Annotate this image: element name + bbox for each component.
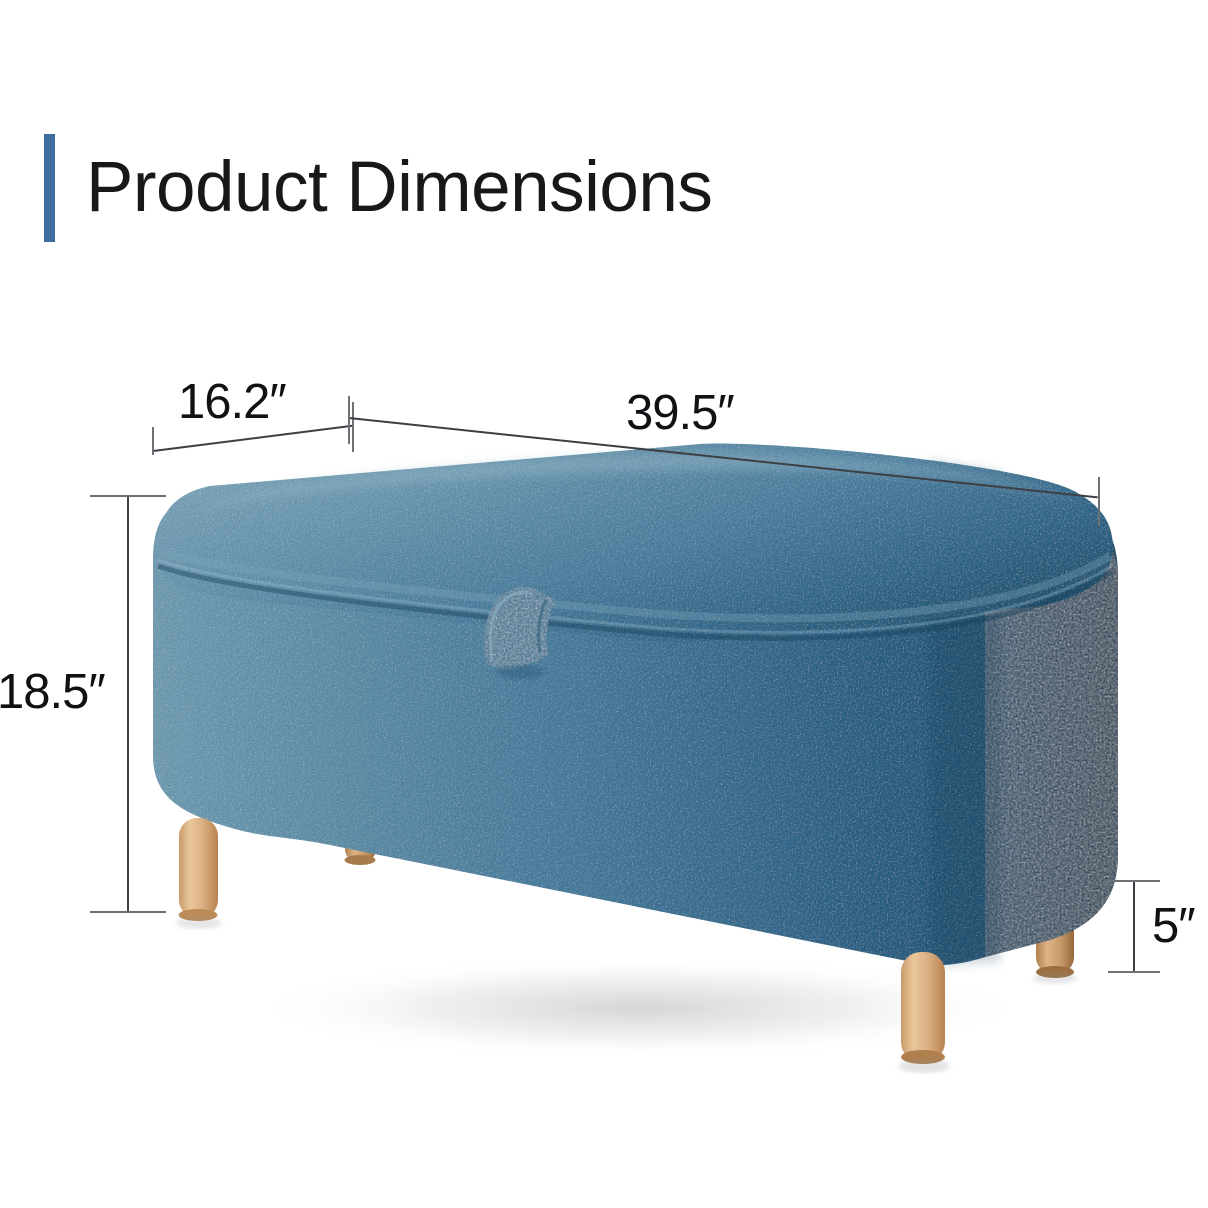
dimension-line-leg-height: [1133, 881, 1135, 973]
page-title-block: Product Dimensions: [44, 134, 712, 242]
leg-front-right: [898, 952, 950, 1073]
product-dimensions-infographic: Product Dimensions: [0, 0, 1208, 1208]
dimension-line-height: [127, 496, 129, 913]
dimension-label-height: 18.5″: [0, 664, 105, 720]
floor-shadow: [250, 956, 1030, 1060]
dimension-tick-height-bottom: [90, 911, 166, 913]
dimension-tick-depth-left: [152, 427, 154, 455]
pull-tab-handle: [485, 587, 556, 679]
title-accent-bar: [44, 134, 55, 242]
dimension-tick-width-right: [1098, 477, 1100, 526]
leg-front-left: [176, 818, 222, 929]
dimension-label-width: 39.5″: [626, 385, 734, 441]
dimension-tick-depth-right: [352, 402, 354, 452]
bench-body: [153, 450, 1118, 966]
dimension-tick-height-top: [90, 495, 166, 497]
dimension-tick-width-left: [348, 396, 350, 444]
leg-rear-right: [1033, 888, 1077, 984]
dimension-tick-leg-height-bottom: [1108, 971, 1160, 973]
bench-lid: [156, 444, 1113, 643]
page-title: Product Dimensions: [55, 134, 712, 242]
dimension-tick-leg-height-top: [1108, 880, 1160, 882]
dimension-label-leg-height: 5″: [1152, 898, 1195, 954]
dimension-label-depth: 16.2″: [178, 374, 286, 430]
leg-rear-left: [345, 810, 377, 865]
